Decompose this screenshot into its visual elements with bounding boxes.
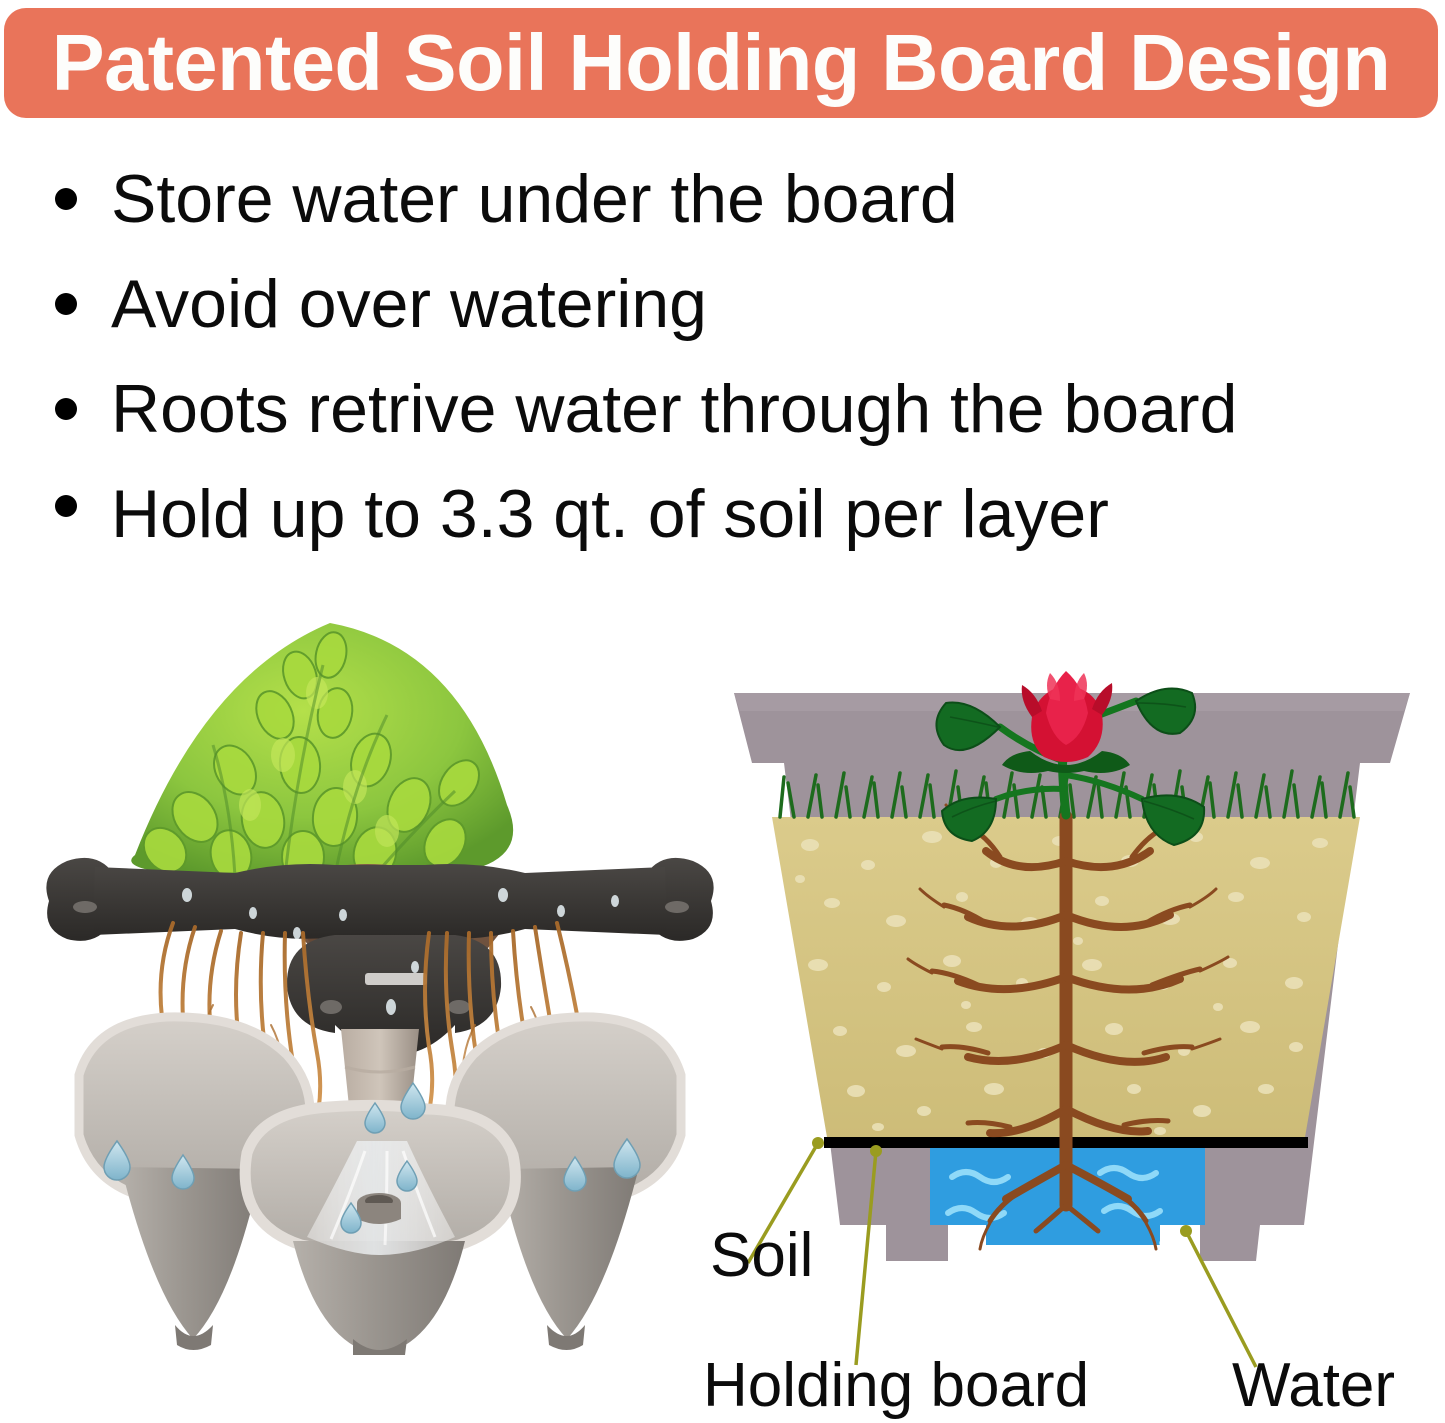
callout-label-soil: Soil bbox=[710, 1225, 813, 1287]
list-item: Store water under the board bbox=[55, 160, 1395, 265]
feature-list: Store water under the board Avoid over w… bbox=[55, 160, 1395, 580]
page-title: Patented Soil Holding Board Design bbox=[52, 23, 1390, 103]
callout-label-holding-board: Holding board bbox=[703, 1355, 1089, 1417]
feature-text: Avoid over watering bbox=[111, 265, 707, 343]
feature-text: Hold up to 3.3 qt. of soil per layer bbox=[111, 475, 1109, 553]
pot-cross-section-diagram bbox=[700, 665, 1445, 1423]
feature-text: Store water under the board bbox=[111, 160, 958, 238]
bullet-dot-icon bbox=[55, 293, 77, 315]
bullet-dot-icon bbox=[55, 188, 77, 210]
product-photo-stackable-planter bbox=[35, 555, 725, 1355]
callout-label-water: Water bbox=[1232, 1355, 1395, 1417]
bullet-dot-icon bbox=[55, 495, 77, 517]
bullet-dot-icon bbox=[55, 398, 77, 420]
planter-bowls-photo bbox=[79, 1017, 681, 1355]
list-item: Avoid over watering bbox=[55, 265, 1395, 370]
feature-text: Roots retrive water through the board bbox=[111, 370, 1237, 448]
header-banner: Patented Soil Holding Board Design bbox=[4, 8, 1438, 118]
list-item: Roots retrive water through the board bbox=[55, 370, 1395, 475]
plant-foliage-photo bbox=[131, 623, 513, 884]
